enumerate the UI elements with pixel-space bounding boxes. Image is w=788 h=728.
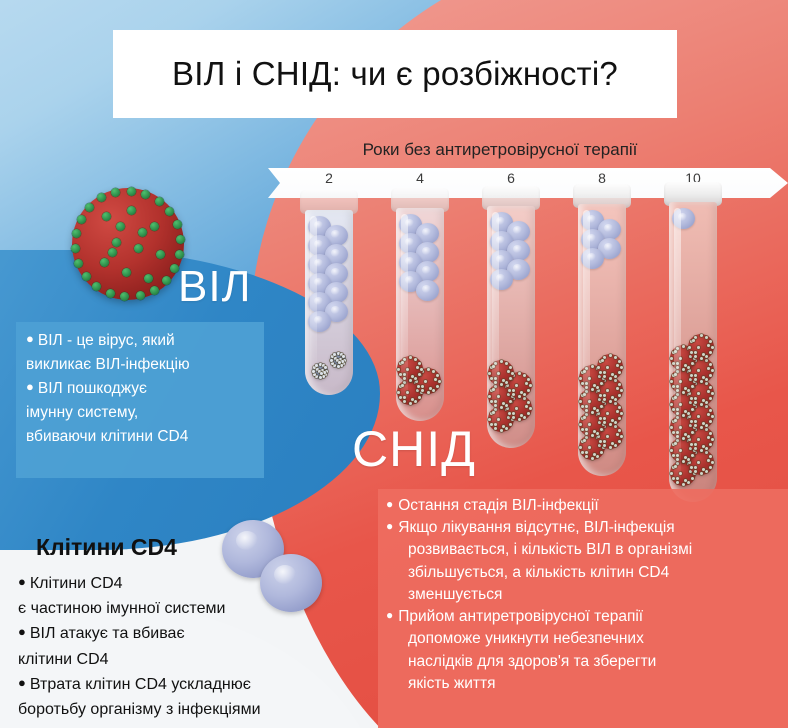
bullet-icon: ●: [386, 519, 393, 533]
aids-label: СНІД: [352, 420, 476, 478]
infographic-canvas: ВІЛ і СНІД: чи є розбіжності? Роки без а…: [0, 0, 788, 728]
virus-spike: [687, 435, 690, 438]
virus-spike: [150, 222, 159, 231]
virus-spike: [492, 388, 495, 391]
virus-spike: [593, 407, 596, 410]
virus-spike: [618, 440, 621, 443]
tube-body: [669, 202, 717, 502]
virus-spike: [690, 466, 693, 469]
virus-spike: [684, 387, 687, 390]
virus-spike: [319, 376, 322, 379]
virus-spike: [679, 472, 682, 475]
virus-spike: [406, 391, 409, 394]
virus-spike: [596, 432, 599, 435]
virus-spike: [697, 392, 700, 395]
virus-spike: [312, 370, 315, 373]
virus-spike: [694, 447, 697, 450]
virus-spike: [609, 377, 612, 380]
virus-spike: [436, 374, 439, 377]
cd4-cell: [308, 311, 331, 332]
hiv-virus-icon: [72, 188, 184, 300]
virus-spike: [672, 362, 675, 365]
virus-spike: [342, 355, 345, 358]
virus-spike: [694, 378, 697, 381]
virus-spike: [527, 378, 530, 381]
virus-spike: [505, 362, 508, 365]
virus-spike: [323, 371, 326, 374]
virus-spike: [490, 366, 493, 369]
virus-spike: [500, 383, 503, 386]
hiv-bullet-1-line1: ВІЛ - це вірус, який: [38, 332, 175, 349]
virus-spike: [585, 382, 588, 385]
virus-spike: [490, 389, 493, 392]
virus-spike: [705, 355, 708, 358]
virus-spike: [711, 461, 714, 464]
virus-spike: [497, 395, 500, 398]
virus-spike: [709, 340, 712, 343]
aids-bullet-1: ●Остання стадія ВІЛ-інфекції: [386, 495, 778, 516]
virus-spike: [603, 417, 606, 420]
cd4-heading: Клітини CD4: [36, 534, 177, 561]
virus-spike: [505, 381, 508, 384]
year-label-6: 6: [491, 170, 531, 186]
virus-spike: [585, 390, 588, 393]
virus-spike: [509, 377, 512, 380]
virus-spike: [588, 377, 591, 380]
virus-spike: [674, 465, 677, 468]
virus-spike: [111, 188, 120, 197]
virus-spike: [72, 229, 81, 238]
virus-spike: [71, 244, 80, 253]
virus-spike: [702, 422, 705, 425]
virus-spike: [705, 401, 708, 404]
virus-spike: [599, 371, 602, 374]
virus-spike: [494, 385, 497, 388]
virus-spike: [603, 356, 606, 359]
aids-bullet-3: ●Прийом антиретровірусної терапії: [386, 606, 778, 627]
virus-spike: [77, 215, 86, 224]
virus-spike: [682, 460, 685, 463]
virus-spike: [502, 425, 505, 428]
virus-spike: [409, 379, 412, 382]
virus-spike: [585, 386, 588, 389]
virus-spike: [611, 419, 614, 422]
virus-spike: [497, 418, 500, 421]
virus-spike: [707, 436, 710, 439]
virus-spike: [399, 385, 402, 388]
hiv-virus-particle: [330, 352, 346, 368]
aids-bullet-2-line1: Якщо лікування відсутнє, ВІЛ-інфекція: [398, 519, 674, 536]
virus-spike: [583, 393, 586, 396]
year-label-2: 2: [309, 170, 349, 186]
virus-spike: [597, 366, 600, 369]
virus-spike: [614, 444, 617, 447]
virus-spike: [74, 259, 83, 268]
virus-spike: [500, 406, 503, 409]
virus-spike: [688, 346, 691, 349]
virus-spike: [585, 367, 588, 370]
virus-spike: [682, 437, 685, 440]
virus-spike: [672, 431, 675, 434]
virus-spike: [600, 382, 603, 385]
virus-spike: [620, 366, 623, 369]
virus-spike: [529, 384, 532, 387]
cd4-bullet-1-line2: є частиною імунної системи: [18, 597, 348, 620]
virus-spike: [700, 357, 703, 360]
virus-spike: [85, 203, 94, 212]
virus-spike: [173, 220, 182, 229]
cd4-bullet-3: ●Втрата клітин CD4 ускладнює: [18, 673, 348, 696]
virus-spike: [707, 390, 710, 393]
virus-spike: [438, 380, 441, 383]
virus-spike: [609, 400, 612, 403]
virus-spike: [508, 389, 511, 392]
virus-spike: [494, 423, 497, 426]
virus-spike: [700, 403, 703, 406]
virus-spike: [583, 439, 586, 442]
virus-spike: [676, 408, 679, 411]
cd4-cell: [581, 248, 604, 269]
virus-spike: [409, 402, 412, 405]
virus-spike: [614, 421, 617, 424]
hiv-label: ВІЛ: [178, 262, 251, 312]
virus-spike: [682, 483, 685, 486]
virus-spike: [581, 440, 584, 443]
hiv-bullet-1: ●ВІЛ - це вірус, який: [26, 330, 252, 352]
cd4-bullet-3-line2: боротьбу організму з інфекціями: [18, 698, 348, 721]
virus-spike: [702, 376, 705, 379]
hiv-bullet-2-cont2: вбиваючи клітини CD4: [26, 426, 252, 448]
virus-spike: [490, 377, 493, 380]
bullet-icon: ●: [18, 574, 26, 589]
virus-spike: [585, 432, 588, 435]
virus-spike: [581, 417, 584, 420]
aids-bullet-2-line2: розвивається, і кількість ВІЛ в організм…: [386, 539, 778, 560]
aids-bullet-1-text: Остання стадія ВІЛ-інфекції: [398, 497, 598, 514]
virus-spike: [618, 406, 621, 409]
virus-spike: [616, 410, 619, 413]
virus-spike: [488, 372, 491, 375]
virus-spike: [694, 374, 697, 377]
cd4-cell: [416, 280, 439, 301]
virus-spike: [616, 433, 619, 436]
virus-spike: [697, 346, 700, 349]
virus-spike: [676, 366, 679, 369]
virus-spike: [611, 373, 614, 376]
aids-info-box: ●Остання стадія ВІЛ-інфекції ●Якщо лікув…: [378, 489, 788, 728]
virus-spike: [707, 367, 710, 370]
virus-spike: [676, 477, 679, 480]
virus-spike: [411, 398, 414, 401]
virus-spike: [523, 374, 526, 377]
virus-spike: [600, 428, 603, 431]
virus-spike: [591, 434, 594, 437]
virus-spike: [591, 411, 594, 414]
virus-spike: [127, 206, 136, 215]
virus-spike: [603, 371, 606, 374]
virus-spike: [520, 414, 523, 417]
virus-spike: [106, 289, 115, 298]
virus-spike: [432, 389, 435, 392]
virus-spike: [694, 397, 697, 400]
virus-spike: [694, 443, 697, 446]
virus-spike: [687, 366, 690, 369]
virus-spike: [409, 356, 412, 359]
virus-spike: [670, 403, 673, 406]
virus-spike: [709, 386, 712, 389]
virus-spike: [705, 447, 708, 450]
virus-spike: [511, 372, 514, 375]
virus-spike: [585, 413, 588, 416]
virus-spike: [599, 440, 602, 443]
virus-spike: [694, 420, 697, 423]
virus-spike: [672, 374, 675, 377]
virus-spike: [606, 366, 609, 369]
virus-spike: [92, 282, 101, 291]
virus-spike: [593, 430, 596, 433]
bullet-icon: ●: [26, 331, 34, 346]
virus-spike: [108, 248, 117, 257]
virus-spike: [122, 268, 131, 277]
aids-bullet-2-line3: збільшується, а кількість клітин CD4: [386, 562, 778, 583]
virus-spike: [670, 472, 673, 475]
virus-spike: [156, 250, 165, 259]
year-label-4: 4: [400, 170, 440, 186]
hiv-virus-particle: [688, 334, 714, 360]
virus-spike: [112, 238, 121, 247]
virus-spike: [585, 428, 588, 431]
title-banner: ВІЛ і СНІД: чи є розбіжності?: [113, 30, 677, 118]
virus-spike: [690, 443, 693, 446]
virus-spike: [414, 358, 417, 361]
virus-spike: [700, 472, 703, 475]
virus-spike: [700, 426, 703, 429]
virus-spike: [694, 466, 697, 469]
virus-spike: [690, 351, 693, 354]
virus-spike: [711, 346, 714, 349]
virus-spike: [162, 276, 171, 285]
virus-spike: [606, 435, 609, 438]
virus-spike: [401, 384, 404, 387]
virus-spike: [141, 190, 150, 199]
virus-spike: [676, 458, 679, 461]
virus-spike: [583, 416, 586, 419]
virus-spike: [672, 385, 675, 388]
virus-spike: [176, 235, 185, 244]
virus-spike: [333, 364, 336, 367]
virus-spike: [676, 385, 679, 388]
virus-spike: [705, 336, 708, 339]
bullet-icon: ●: [18, 675, 26, 690]
virus-spike: [320, 372, 323, 375]
virus-spike: [102, 212, 111, 221]
virus-spike: [403, 396, 406, 399]
virus-spike: [679, 403, 682, 406]
virus-spike: [399, 373, 402, 376]
virus-spike: [705, 378, 708, 381]
virus-spike: [672, 408, 675, 411]
virus-spike: [700, 334, 703, 337]
aids-bullet-3-line2: допоможе уникнути небезпечних: [386, 628, 778, 649]
aids-bullet-2-line4: зменшується: [386, 584, 778, 605]
virus-spike: [403, 373, 406, 376]
virus-spike: [687, 481, 690, 484]
hiv-virus-particle: [597, 354, 623, 380]
cd4-bullet-3-line1: Втрата клітин CD4 ускладнює: [30, 676, 251, 693]
virus-spike: [515, 384, 518, 387]
virus-spike: [676, 370, 679, 373]
aids-bullet-3-line1: Прийом антиретровірусної терапії: [398, 608, 643, 625]
virus-spike: [676, 435, 679, 438]
virus-spike: [601, 359, 604, 362]
virus-spike: [494, 408, 497, 411]
virus-spike: [403, 377, 406, 380]
virus-spike: [709, 443, 712, 446]
virus-spike: [676, 412, 679, 415]
virus-spike: [676, 454, 679, 457]
virus-spike: [609, 354, 612, 357]
virus-spike: [591, 388, 594, 391]
virus-spike: [684, 410, 687, 413]
virus-spike: [403, 400, 406, 403]
bullet-icon: ●: [386, 497, 393, 511]
virus-spike: [670, 357, 673, 360]
virus-spike: [315, 364, 318, 367]
virus-spike: [406, 368, 409, 371]
virus-spike: [507, 370, 510, 373]
virus-spike: [165, 207, 174, 216]
virus-spike: [691, 431, 694, 434]
cd4-bullet-2-line1: ВІЛ атакує та вбиває: [30, 625, 185, 642]
virus-spike: [585, 409, 588, 412]
virus-spike: [338, 361, 341, 364]
virus-spike: [527, 401, 530, 404]
virus-spike: [591, 365, 594, 368]
virus-spike: [694, 351, 697, 354]
virus-spike: [674, 373, 677, 376]
virus-spike: [614, 398, 617, 401]
aids-bullet-2: ●Якщо лікування відсутнє, ВІЛ-інфекція: [386, 517, 778, 538]
virus-spike: [620, 435, 623, 438]
virus-spike: [616, 364, 619, 367]
hiv-info-box: ●ВІЛ - це вірус, який викликає ВІЛ-інфек…: [16, 322, 264, 478]
virus-spike: [581, 382, 584, 385]
virus-spike: [581, 405, 584, 408]
virus-spike: [684, 433, 687, 436]
virus-spike: [596, 455, 599, 458]
cd4-info-box: ●Клітини CD4 є частиною імунної системи …: [18, 572, 348, 723]
virus-spike: [515, 407, 518, 410]
virus-spike: [702, 468, 705, 471]
virus-spike: [709, 466, 712, 469]
virus-spike: [676, 362, 679, 365]
virus-spike: [618, 360, 621, 363]
virus-spike: [679, 426, 682, 429]
cd4-bullet-1: ●Клітини CD4: [18, 572, 348, 595]
virus-spike: [518, 418, 521, 421]
virus-spike: [581, 428, 584, 431]
virus-spike: [691, 362, 694, 365]
virus-spike: [618, 371, 621, 374]
virus-spike: [518, 372, 521, 375]
virus-spike: [529, 407, 532, 410]
virus-spike: [687, 458, 690, 461]
virus-spike: [313, 366, 316, 369]
virus-spike: [679, 449, 682, 452]
virus-spike: [707, 344, 710, 347]
virus-spike: [505, 427, 508, 430]
virus-spike: [705, 424, 708, 427]
virus-spike: [502, 402, 505, 405]
virus-spike: [676, 416, 679, 419]
virus-spike: [581, 451, 584, 454]
virus-spike: [512, 389, 515, 392]
virus-spike: [674, 419, 677, 422]
virus-spike: [527, 412, 530, 415]
virus-spike: [581, 371, 584, 374]
tube-body: [396, 208, 444, 421]
virus-spike: [488, 418, 491, 421]
virus-spike: [614, 356, 617, 359]
page-title: ВІЛ і СНІД: чи є розбіжності?: [172, 55, 618, 93]
virus-spike: [603, 421, 606, 424]
virus-spike: [697, 461, 700, 464]
virus-spike: [603, 375, 606, 378]
virus-spike: [492, 365, 495, 368]
virus-spike: [672, 443, 675, 446]
virus-spike: [417, 385, 420, 388]
cd4-bullet-1-line1: Клітини CD4: [30, 575, 123, 592]
virus-spike: [672, 454, 675, 457]
virus-spike: [421, 385, 424, 388]
virus-spike: [711, 415, 714, 418]
hiv-bullet-2-line1: ВІЛ пошкоджує: [38, 380, 147, 397]
virus-spike: [676, 462, 679, 465]
virus-spike: [502, 379, 505, 382]
virus-spike: [618, 383, 621, 386]
virus-spike: [620, 389, 623, 392]
virus-spike: [614, 375, 617, 378]
aids-bullet-3-line3: наслідків для здоров'я та зберегти: [386, 651, 778, 672]
virus-spike: [579, 446, 582, 449]
virus-spike: [691, 454, 694, 457]
virus-spike: [676, 393, 679, 396]
virus-spike: [682, 414, 685, 417]
virus-spike: [600, 405, 603, 408]
cd4-bullet-2-line2: клітини CD4: [18, 648, 348, 671]
bullet-icon: ●: [26, 379, 34, 394]
virus-spike: [599, 394, 602, 397]
virus-spike: [494, 427, 497, 430]
virus-spike: [676, 389, 679, 392]
virus-spike: [488, 395, 491, 398]
virus-spike: [508, 412, 511, 415]
virus-spike: [579, 377, 582, 380]
virus-spike: [579, 423, 582, 426]
virus-spike: [596, 386, 599, 389]
virus-spike: [682, 345, 685, 348]
virus-spike: [512, 393, 515, 396]
virus-spike: [682, 368, 685, 371]
virus-spike: [418, 362, 421, 365]
virus-spike: [690, 397, 693, 400]
virus-spike: [397, 391, 400, 394]
virus-spike: [341, 360, 344, 363]
virus-spike: [527, 389, 530, 392]
virus-spike: [672, 397, 675, 400]
virus-spike: [155, 197, 164, 206]
virus-spike: [697, 438, 700, 441]
